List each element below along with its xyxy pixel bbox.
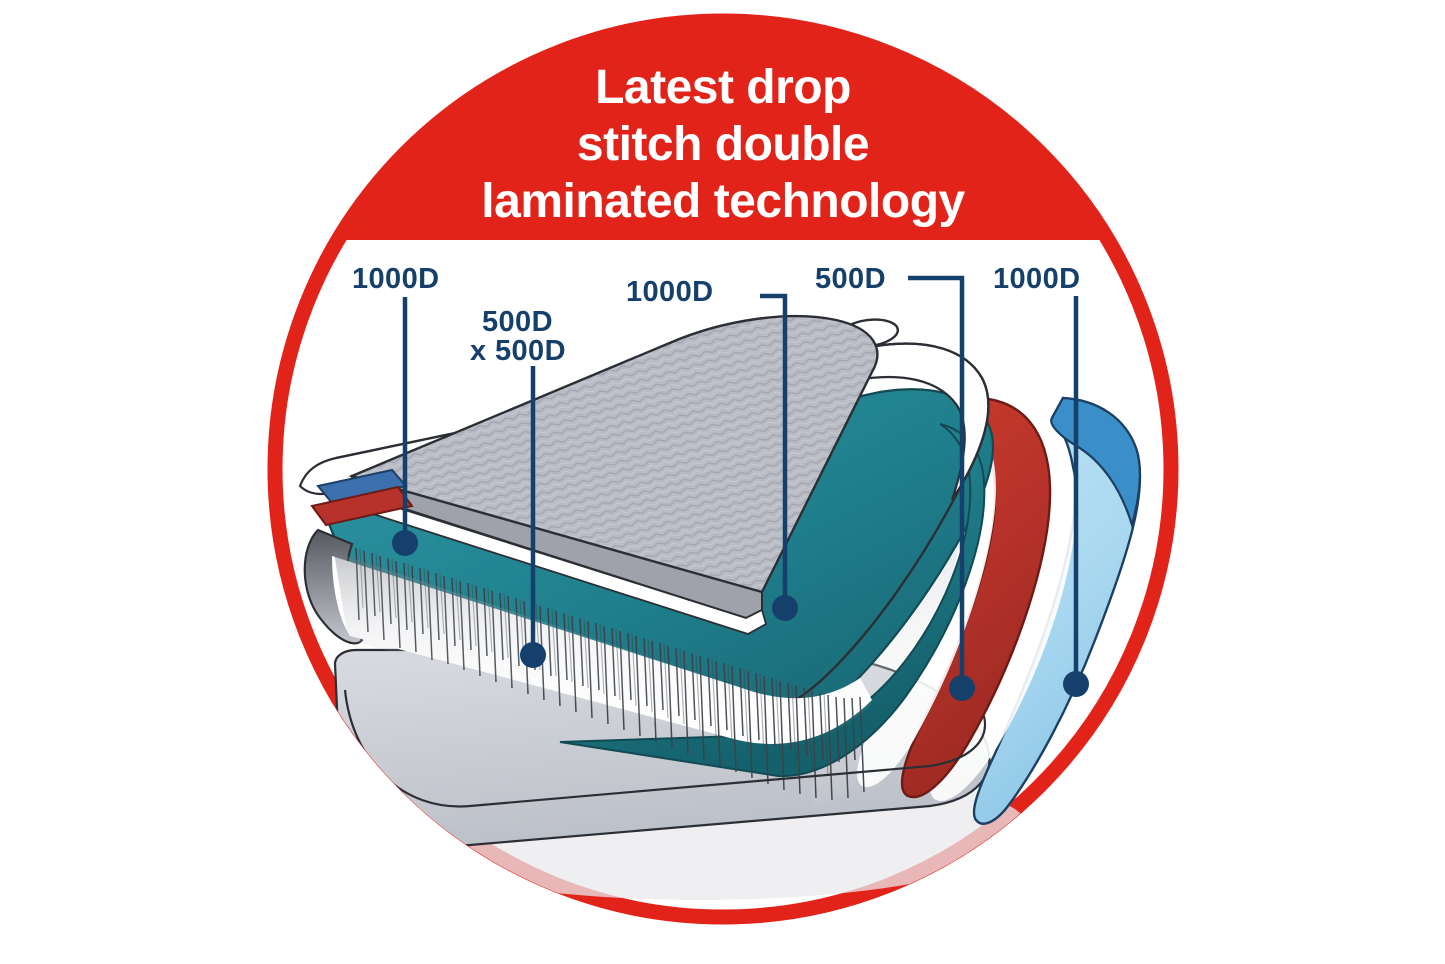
callout-label-3: 1000D (626, 276, 713, 308)
leader-dot-3 (772, 595, 798, 621)
leader-dot-1 (392, 530, 418, 556)
leader-dot-4 (949, 675, 975, 701)
callout-label-2-line2: x 500D (470, 335, 566, 367)
title-line-2: stitch double (577, 118, 869, 171)
leader-dot-5 (1063, 671, 1089, 697)
title-line-3: laminated technology (481, 175, 965, 228)
callout-label-2-line1: 500D (482, 306, 553, 338)
technology-badge: Latest drop stitch double laminated tech… (0, 0, 1445, 964)
callout-label-4: 500D (815, 263, 886, 295)
title-line-1: Latest drop (595, 61, 851, 114)
callout-label-5: 1000D (993, 263, 1080, 295)
infographic-canvas: Latest drop stitch double laminated tech… (0, 0, 1445, 964)
callout-label-1: 1000D (352, 263, 439, 295)
leader-dot-2 (520, 642, 546, 668)
